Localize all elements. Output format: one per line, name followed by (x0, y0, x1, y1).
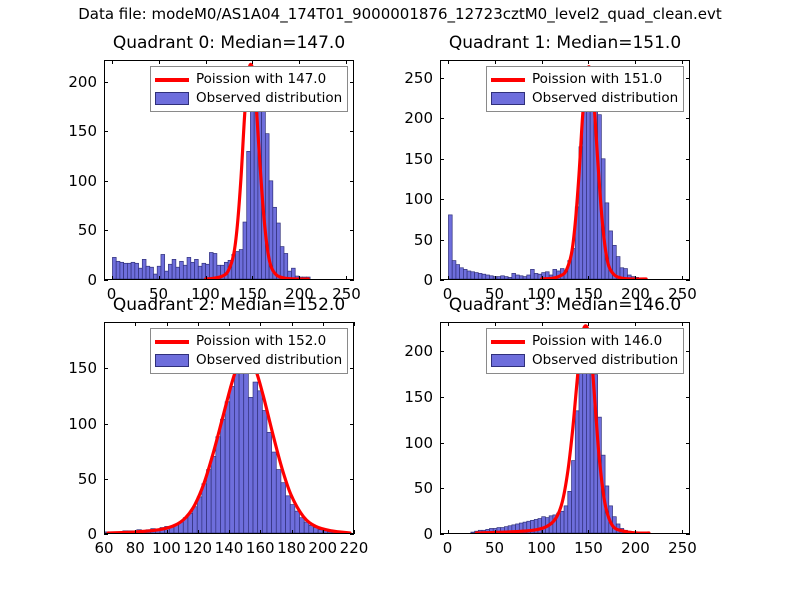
x-tick-mark (198, 322, 199, 326)
x-tick-label: 100 (527, 539, 556, 557)
x-tick-mark (229, 530, 230, 534)
x-tick-label: 220 (340, 539, 369, 557)
x-tick-mark (635, 60, 636, 64)
y-tick-mark (350, 424, 354, 425)
x-tick-mark (135, 530, 136, 534)
y-tick-mark (440, 443, 444, 444)
x-tick-mark (588, 530, 589, 534)
y-tick-mark (440, 397, 444, 398)
histogram-bars-quadrant-2 (105, 358, 337, 533)
x-tick-mark (682, 276, 683, 280)
y-tick-label: 0 (56, 271, 97, 289)
y-tick-mark (686, 488, 690, 489)
y-tick-label: 0 (56, 525, 97, 543)
legend-label-poisson: Poission with 147.0 (196, 73, 326, 87)
x-tick-mark (448, 60, 449, 64)
y-tick-label: 150 (56, 122, 97, 140)
x-tick-label: 50 (485, 539, 504, 557)
x-tick-mark (448, 276, 449, 280)
x-tick-mark (167, 322, 168, 326)
legend-label-observed: Observed distribution (196, 92, 342, 106)
legend-entry-observed: Observed distribution (491, 351, 678, 370)
y-tick-mark (104, 181, 108, 182)
y-tick-label: 50 (56, 221, 97, 239)
y-tick-label: 100 (56, 172, 97, 190)
x-tick-mark (292, 530, 293, 534)
line-swatch-icon (155, 335, 189, 349)
x-tick-mark (495, 276, 496, 280)
x-tick-mark (448, 322, 449, 326)
y-tick-mark (104, 230, 108, 231)
y-tick-mark (686, 159, 690, 160)
x-tick-label: 140 (215, 539, 244, 557)
x-tick-mark (682, 60, 683, 64)
x-tick-mark (252, 60, 253, 64)
x-tick-mark (542, 530, 543, 534)
y-tick-mark (440, 488, 444, 489)
y-tick-mark (440, 199, 444, 200)
x-tick-mark (635, 322, 636, 326)
legend-label-observed: Observed distribution (196, 354, 342, 368)
subplot-quadrant-0: Quadrant 0: Median=147.0 050100150200250… (104, 60, 354, 280)
x-tick-mark (495, 60, 496, 64)
x-tick-mark (260, 530, 261, 534)
legend-entry-poisson: Poission with 146.0 (491, 332, 678, 351)
x-tick-label: 200 (621, 539, 650, 557)
legend-quadrant-0: Poission with 147.0 Observed distributio… (150, 66, 348, 112)
x-tick-label: 80 (126, 539, 145, 557)
x-tick-label: 250 (668, 539, 697, 557)
legend-quadrant-3: Poission with 146.0 Observed distributio… (486, 328, 684, 374)
x-tick-mark (542, 60, 543, 64)
x-tick-mark (104, 322, 105, 326)
y-tick-mark (440, 534, 444, 535)
patch-swatch-icon (491, 354, 525, 368)
y-tick-mark (350, 280, 354, 281)
figure-suptitle: Data file: modeM0/AS1A04_174T01_90000018… (0, 5, 800, 23)
y-tick-mark (350, 534, 354, 535)
legend-entry-poisson: Poission with 147.0 (155, 70, 342, 89)
legend-entry-observed: Observed distribution (155, 351, 342, 370)
x-tick-mark (159, 60, 160, 64)
y-tick-mark (104, 131, 108, 132)
y-tick-mark (104, 424, 108, 425)
legend-label-poisson: Poission with 152.0 (196, 335, 326, 349)
subplot-quadrant-2: Quadrant 2: Median=152.0 608010012014016… (104, 322, 354, 534)
y-tick-label: 250 (392, 69, 433, 87)
x-tick-mark (542, 276, 543, 280)
y-tick-label: 50 (392, 479, 433, 497)
x-tick-mark (159, 276, 160, 280)
y-tick-mark (440, 240, 444, 241)
x-tick-mark (112, 60, 113, 64)
x-tick-mark (252, 276, 253, 280)
y-tick-mark (686, 280, 690, 281)
subplot-quadrant-3: Quadrant 3: Median=146.0 050100150200250… (440, 322, 690, 534)
y-tick-label: 0 (392, 525, 433, 543)
y-tick-mark (686, 78, 690, 79)
x-tick-mark (682, 322, 683, 326)
y-tick-label: 50 (392, 231, 433, 249)
x-tick-label: 160 (246, 539, 275, 557)
y-tick-mark (440, 118, 444, 119)
y-tick-label: 200 (392, 109, 433, 127)
x-tick-mark (588, 60, 589, 64)
legend-quadrant-2: Poission with 152.0 Observed distributio… (150, 328, 348, 374)
y-tick-mark (350, 82, 354, 83)
x-tick-mark (299, 60, 300, 64)
y-tick-mark (440, 159, 444, 160)
y-tick-mark (350, 368, 354, 369)
x-tick-label: 180 (277, 539, 306, 557)
y-tick-mark (440, 78, 444, 79)
y-tick-label: 150 (392, 150, 433, 168)
y-tick-mark (350, 230, 354, 231)
legend-label-observed: Observed distribution (532, 354, 678, 368)
y-tick-label: 100 (56, 415, 97, 433)
line-swatch-icon (491, 73, 525, 87)
x-tick-mark (299, 276, 300, 280)
y-tick-mark (686, 534, 690, 535)
x-tick-mark (346, 60, 347, 64)
patch-swatch-icon (155, 354, 189, 368)
x-tick-mark (354, 530, 355, 534)
x-tick-mark (112, 276, 113, 280)
legend-entry-observed: Observed distribution (491, 89, 678, 108)
x-tick-mark (346, 276, 347, 280)
x-tick-mark (448, 530, 449, 534)
patch-swatch-icon (491, 92, 525, 106)
y-tick-mark (686, 351, 690, 352)
matplotlib-figure: Data file: modeM0/AS1A04_174T01_90000018… (0, 0, 800, 600)
x-tick-mark (292, 322, 293, 326)
x-tick-mark (682, 530, 683, 534)
x-tick-mark (495, 530, 496, 534)
line-swatch-icon (491, 335, 525, 349)
x-tick-label: 100 (152, 539, 181, 557)
x-tick-label: 120 (183, 539, 212, 557)
subplot-title-quadrant-0: Quadrant 0: Median=147.0 (104, 33, 354, 53)
x-tick-mark (198, 530, 199, 534)
legend-entry-observed: Observed distribution (155, 89, 342, 108)
y-tick-label: 50 (56, 470, 97, 488)
y-tick-label: 100 (392, 434, 433, 452)
legend-label-poisson: Poission with 146.0 (532, 335, 662, 349)
legend-quadrant-1: Poission with 151.0 Observed distributio… (486, 66, 684, 112)
y-tick-mark (350, 479, 354, 480)
x-tick-label: 0 (443, 539, 453, 557)
x-tick-mark (323, 530, 324, 534)
y-tick-mark (686, 118, 690, 119)
y-tick-mark (350, 131, 354, 132)
y-tick-mark (350, 181, 354, 182)
x-tick-mark (206, 276, 207, 280)
x-tick-mark (542, 322, 543, 326)
x-tick-mark (588, 322, 589, 326)
y-tick-mark (104, 479, 108, 480)
y-tick-label: 200 (392, 342, 433, 360)
line-swatch-icon (155, 73, 189, 87)
x-tick-mark (354, 322, 355, 326)
y-tick-mark (104, 534, 108, 535)
x-tick-mark (206, 60, 207, 64)
subplot-title-quadrant-2: Quadrant 2: Median=152.0 (104, 295, 354, 315)
y-tick-label: 100 (392, 190, 433, 208)
patch-swatch-icon (155, 92, 189, 106)
x-tick-mark (229, 322, 230, 326)
x-tick-label: 200 (308, 539, 337, 557)
x-tick-mark (635, 276, 636, 280)
x-tick-label: 150 (574, 539, 603, 557)
y-tick-mark (686, 397, 690, 398)
y-tick-mark (104, 280, 108, 281)
x-tick-label: 60 (94, 539, 113, 557)
y-tick-mark (686, 240, 690, 241)
legend-label-poisson: Poission with 151.0 (532, 73, 662, 87)
legend-entry-poisson: Poission with 152.0 (155, 332, 342, 351)
x-tick-mark (260, 322, 261, 326)
subplot-title-quadrant-1: Quadrant 1: Median=151.0 (440, 33, 690, 53)
legend-label-observed: Observed distribution (532, 92, 678, 106)
y-tick-mark (440, 280, 444, 281)
y-tick-label: 0 (392, 271, 433, 289)
legend-entry-poisson: Poission with 151.0 (491, 70, 678, 89)
y-tick-label: 150 (56, 359, 97, 377)
x-tick-mark (323, 322, 324, 326)
y-tick-mark (104, 82, 108, 83)
subplot-quadrant-1: Quadrant 1: Median=151.0 050100150200250… (440, 60, 690, 280)
y-tick-mark (104, 368, 108, 369)
x-tick-mark (167, 530, 168, 534)
y-tick-mark (440, 351, 444, 352)
x-tick-mark (135, 322, 136, 326)
y-tick-label: 150 (392, 388, 433, 406)
y-tick-mark (686, 199, 690, 200)
x-tick-mark (495, 322, 496, 326)
x-tick-mark (635, 530, 636, 534)
y-tick-mark (686, 443, 690, 444)
x-tick-mark (588, 276, 589, 280)
y-tick-label: 200 (56, 73, 97, 91)
subplot-title-quadrant-3: Quadrant 3: Median=146.0 (440, 295, 690, 315)
